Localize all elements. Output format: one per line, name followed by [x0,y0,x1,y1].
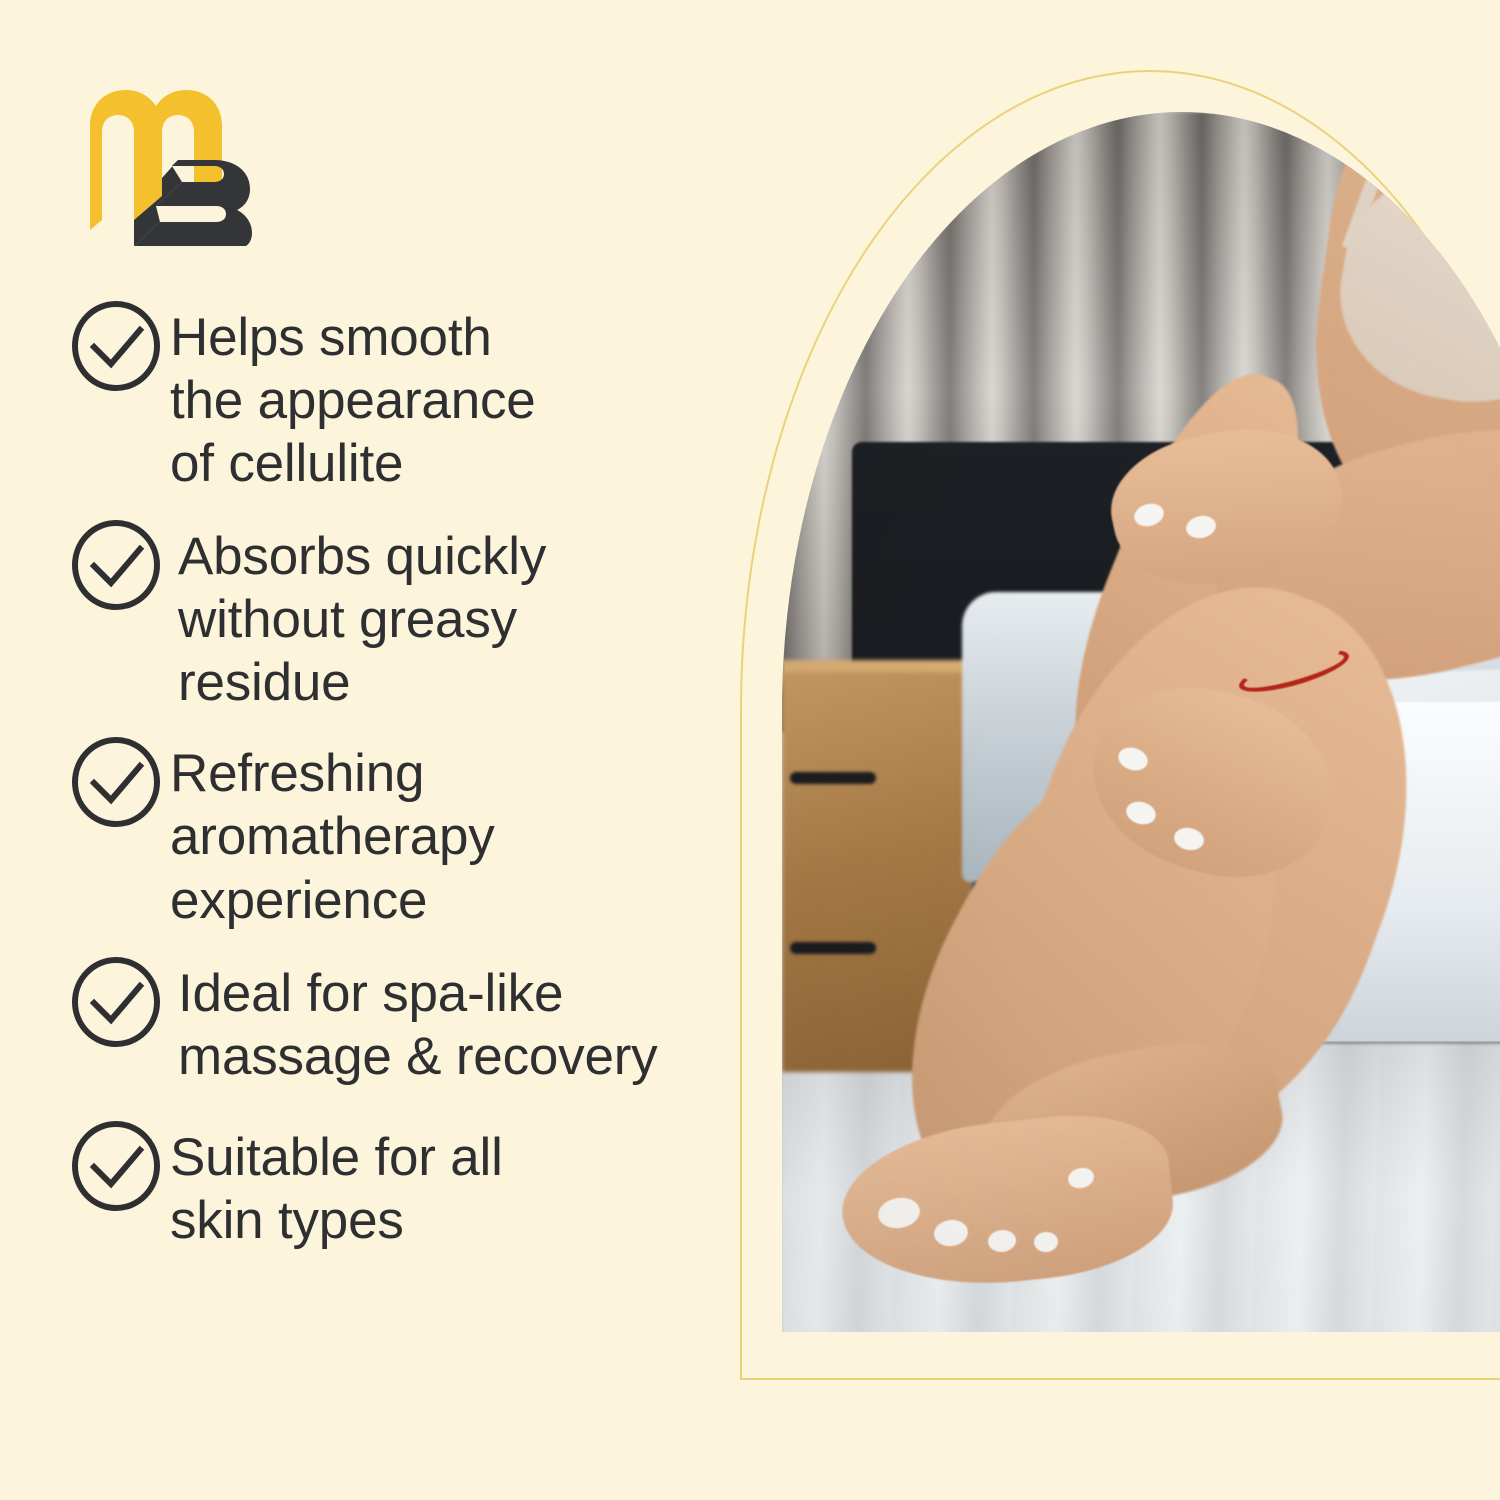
benefits-list: Helps smooth the appearance of cellulite… [70,300,750,1252]
benefit-label: Helps smooth the appearance of cellulite [170,300,750,495]
check-circle-icon [70,1120,162,1212]
benefit-label: Absorbs quickly without greasy residue [170,519,750,714]
benefit-item-spa-massage: Ideal for spa-like massage & recovery [70,956,750,1088]
benefit-item-smooth-cellulite: Helps smooth the appearance of cellulite [70,300,750,495]
hero-photo-panel [700,0,1500,1500]
bedroom-scene [782,112,1500,1332]
benefit-label: Refreshing aromatherapy experience [170,736,750,931]
benefit-item-absorbs-quickly: Absorbs quickly without greasy residue [70,519,750,714]
benefit-item-aromatherapy: Refreshing aromatherapy experience [70,736,750,931]
mb-monogram-icon [86,88,254,248]
check-circle-icon [70,519,162,611]
benefit-item-all-skin-types: Suitable for all skin types [70,1120,750,1252]
benefit-label: Suitable for all skin types [170,1120,750,1252]
nightstand-handle-lower [790,942,876,954]
brand-logo [86,88,254,248]
benefit-label: Ideal for spa-like massage & recovery [170,956,750,1088]
check-circle-icon [70,956,162,1048]
check-circle-icon [70,736,162,828]
check-circle-icon [70,300,162,392]
accent-outline-arch-base [740,1378,1500,1380]
nightstand-handle-upper [790,772,876,784]
lifestyle-photo-arch [782,112,1500,1332]
